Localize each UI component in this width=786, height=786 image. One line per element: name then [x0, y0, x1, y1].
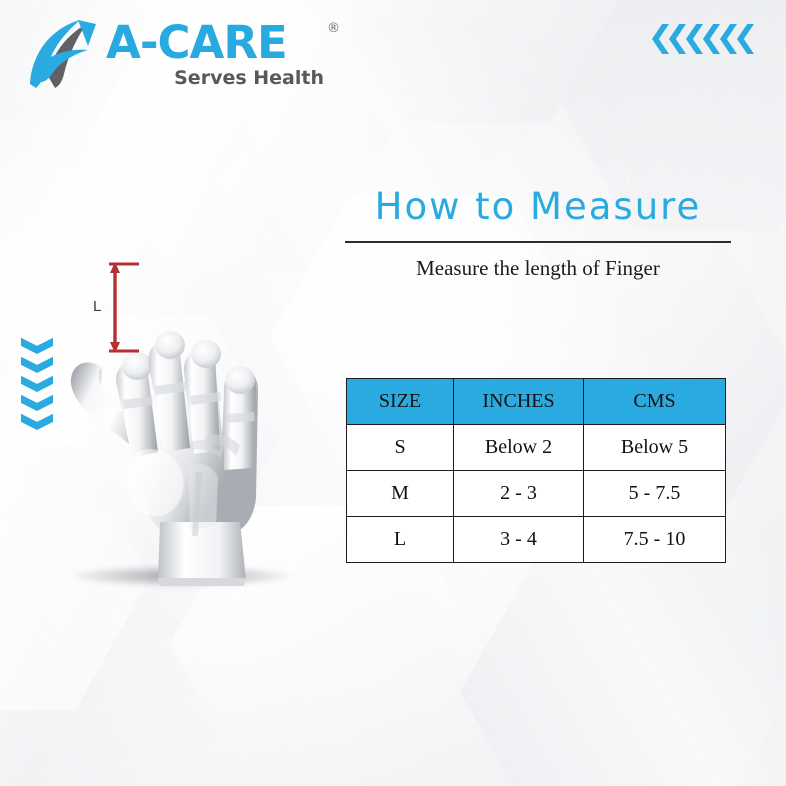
cell-inches: 3 - 4: [454, 517, 584, 563]
size-guide-canvas: A-CARE® Serves Health How to Measure Mea…: [0, 0, 786, 786]
measure-label: L: [93, 298, 101, 315]
chevron-left-icon: [720, 24, 737, 54]
cell-inches: Below 2: [454, 425, 584, 471]
registered-mark-icon: ®: [327, 22, 340, 35]
column-header-cms: CMS: [584, 379, 726, 425]
hand-3d-model-icon: [40, 240, 330, 600]
page-subtitle: Measure the length of Finger: [345, 256, 731, 281]
brand-tagline: Serves Health: [106, 67, 326, 89]
measure-arrow-icon: [95, 258, 141, 358]
chevron-left-cluster: [652, 24, 754, 54]
cell-cms: 7.5 - 10: [584, 517, 726, 563]
brand-wordmark: A-CARE® Serves Health: [106, 20, 326, 89]
cell-cms: 5 - 7.5: [584, 471, 726, 517]
cell-cms: Below 5: [584, 425, 726, 471]
hand-illustration: [40, 240, 330, 600]
page-title: How to Measure: [345, 186, 731, 229]
brand-name: A-CARE®: [106, 20, 326, 65]
chevron-left-icon: [686, 24, 703, 54]
chevron-left-icon: [669, 24, 686, 54]
cell-size: S: [347, 425, 454, 471]
cell-size: M: [347, 471, 454, 517]
table-row: M 2 - 3 5 - 7.5: [347, 471, 726, 517]
column-header-inches: INCHES: [454, 379, 584, 425]
table-row: S Below 2 Below 5: [347, 425, 726, 471]
brand-logo[interactable]: A-CARE® Serves Health: [26, 16, 326, 96]
column-header-size: SIZE: [347, 379, 454, 425]
table-row: L 3 - 4 7.5 - 10: [347, 517, 726, 563]
chevron-left-icon: [703, 24, 720, 54]
acare-swoosh-logo-icon: [26, 18, 106, 92]
heading-block: How to Measure Measure the length of Fin…: [345, 186, 731, 281]
cell-inches: 2 - 3: [454, 471, 584, 517]
title-divider: [345, 241, 731, 243]
measure-arrow: L: [95, 258, 141, 358]
cell-size: L: [347, 517, 454, 563]
chevron-left-icon: [652, 24, 669, 54]
table-header-row: SIZE INCHES CMS: [347, 379, 726, 425]
size-chart-table: SIZE INCHES CMS S Below 2 Below 5 M 2 - …: [346, 378, 726, 563]
chevron-left-icon: [737, 24, 754, 54]
